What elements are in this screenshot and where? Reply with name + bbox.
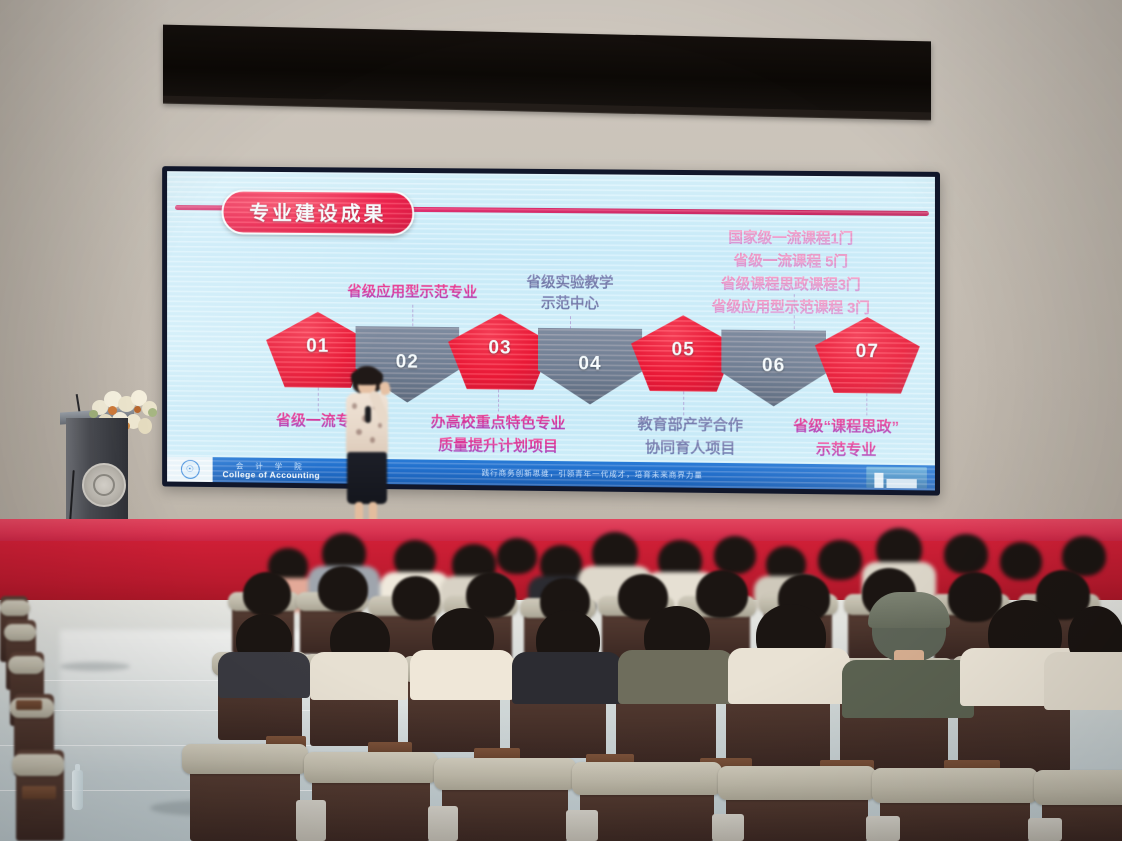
- step-number-04: 04: [578, 353, 601, 375]
- step-number-07: 07: [856, 341, 879, 363]
- connector-stem: [866, 393, 867, 415]
- college-name-en: College of Accounting: [223, 470, 321, 480]
- presenter-hand: [379, 381, 391, 396]
- upper-label-02-line1: 省级实验教学: [510, 273, 630, 295]
- step-pentagon-03: 03: [448, 313, 552, 390]
- step-pentagon-06: 06: [721, 330, 826, 407]
- step-number-05: 05: [672, 339, 695, 361]
- fact-item: 国家级一流课程1门: [645, 227, 935, 253]
- presenter-skirt: [347, 452, 387, 504]
- presenter-hair-front: [351, 368, 383, 385]
- lower-label-4-line1: 省级“课程思政”: [766, 414, 927, 439]
- course-facts-list: 国家级一流课程1门 省级一流课程 5门 省级课程思政课程3门 省级应用型示范课程…: [645, 227, 935, 322]
- fact-item: 省级课程思政课程3门: [645, 273, 935, 299]
- college-name-block: 会 计 学 院 College of Accounting: [223, 461, 321, 480]
- handheld-microphone: [365, 406, 371, 423]
- step-number-01: 01: [306, 336, 329, 358]
- fact-item: 省级一流课程 5门: [645, 250, 935, 276]
- led-screen: 专业建设成果 国家级一流课程1门 省级一流课程 5门 省级课程思政课程3门 省级…: [162, 166, 940, 495]
- footer-slogan: 践行商务创新思维，引领青年一代成才，培育未来商界力量: [320, 465, 866, 482]
- lower-label-2-line2: 质量提升计划项目: [393, 433, 603, 458]
- connector-stem: [498, 389, 499, 411]
- lower-label-3-line1: 教育部产学合作: [605, 413, 776, 438]
- step-number-03: 03: [488, 337, 511, 359]
- wall-shadow-right: [912, 0, 1122, 530]
- slide-footer-bar: ☉ 会 计 学 院 College of Accounting 践行商务创新思维…: [167, 457, 935, 491]
- lower-label-4-line2: 示范专业: [766, 437, 927, 462]
- lower-label-2-line1: 办高校重点特色专业: [393, 410, 603, 435]
- lower-label-3-line2: 协同育人项目: [605, 436, 776, 461]
- university-seal-icon: [82, 463, 126, 507]
- presenter: [338, 366, 400, 536]
- upper-label-02-line2: 示范中心: [510, 294, 630, 316]
- auditorium-photo: 专业建设成果 国家级一流课程1门 省级一流课程 5门 省级课程思政课程3门 省级…: [0, 0, 1122, 841]
- slide-title-text: 专业建设成果: [249, 203, 386, 226]
- upper-label-01: 省级应用型示范专业: [318, 282, 507, 305]
- step-pentagon-row: 01 02 03 04 05 06 07: [167, 310, 935, 398]
- water-bottle: [72, 770, 83, 810]
- slide-title-badge: 专业建设成果: [222, 189, 415, 235]
- step-number-06: 06: [762, 355, 785, 377]
- university-emblem-icon: ☉: [180, 460, 199, 479]
- campus-photo-thumb: [866, 467, 927, 489]
- step-pentagon-05: 05: [631, 315, 735, 392]
- connector-stem: [683, 391, 684, 415]
- presentation-slide: 专业建设成果 国家级一流课程1门 省级一流课程 5门 省级课程思政课程3门 省级…: [167, 171, 935, 490]
- step-pentagon-07: 07: [815, 316, 920, 393]
- step-pentagon-04: 04: [538, 328, 642, 405]
- connector-stem: [318, 388, 319, 412]
- college-logo-plate: ☉: [167, 457, 213, 482]
